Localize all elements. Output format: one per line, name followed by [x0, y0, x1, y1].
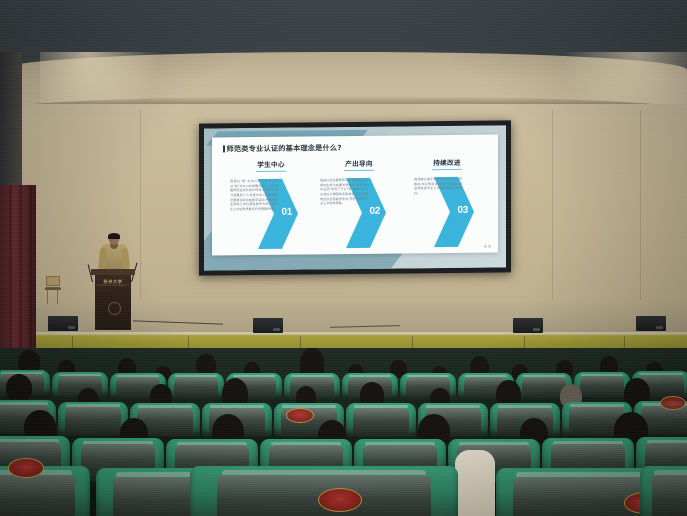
stage-chair	[45, 276, 61, 304]
stage-monitor-speaker	[636, 316, 666, 331]
column-heading-3: 持续改进	[404, 157, 490, 168]
column-body-2: 强调以社会需要和人的全面发展,以师范生学习效果为导向,关注师范生毕业后"学到了什…	[320, 178, 368, 206]
wall-panel-line	[552, 110, 553, 325]
audience-person-white-shirt	[455, 450, 495, 516]
chevron-number-3: 03	[457, 205, 468, 216]
audience-seat-front	[640, 466, 687, 516]
stage-monitor-speaker	[513, 318, 543, 333]
lectern-podium: 苏州大学 SOOCHOW UNIVERSITY	[95, 272, 131, 330]
curtain-fold	[9, 185, 12, 355]
seat-emblem-icon	[660, 396, 686, 410]
wall-panel-line	[140, 110, 141, 325]
audience-head	[6, 374, 32, 402]
column-underline	[344, 170, 374, 172]
podium-top	[91, 269, 135, 275]
projection-screen: 师范类专业认证的基本理念是什么? 01 02	[199, 120, 511, 275]
seat-emblem-icon	[286, 408, 314, 423]
slide-column-3: 持续改进 强调建立基于师范生核心能力素养要求(毕业要求)的评价反馈机制,促进师范…	[404, 157, 490, 196]
chevron-number-2: 02	[369, 206, 380, 217]
projected-slide: 师范类专业认证的基本理念是什么? 01 02	[204, 125, 506, 270]
audience-seat	[58, 402, 128, 436]
curtain-fold	[29, 185, 32, 355]
audience-seat	[346, 403, 416, 437]
stage-monitor-speaker	[253, 318, 283, 333]
slide-title-text: 师范类专业认证的基本理念是什么?	[227, 143, 342, 153]
audience-seat	[574, 372, 630, 398]
podium-seal-icon	[108, 302, 121, 315]
slide-content-card: 师范类专业认证的基本理念是什么? 01 02	[212, 135, 498, 256]
wall-panel-line	[640, 110, 641, 325]
slide-column-2: 产出导向 强调以社会需要和人的全面发展,以师范生学习效果为导向,关注师范生毕业后…	[316, 158, 402, 207]
slide-title: 师范类专业认证的基本理念是什么?	[223, 143, 342, 154]
audience-seating	[0, 348, 687, 516]
seat-emblem-icon	[8, 458, 44, 478]
audience-seat-front	[190, 466, 458, 516]
column-body-1: 强调以"教"为中心的传统模式向以"学"为中心的新模式转变,要求遵循师范生成长成才…	[230, 179, 278, 212]
slide-column-1: 学生中心 强调以"教"为中心的传统模式向以"学"为中心的新模式转变,要求遵循师范…	[228, 158, 314, 211]
column-heading-1: 学生中心	[228, 158, 314, 169]
slide-watermark: 教育	[484, 245, 492, 249]
stage-monitor-speaker	[48, 316, 78, 331]
column-body-3: 强调建立基于师范生核心能力素养要求(毕业要求)的评价反馈机制,促进师范类专业人才…	[414, 177, 462, 196]
auditorium-photo: 师范类专业认证的基本理念是什么? 01 02	[0, 0, 687, 516]
wall-left-dark-edge	[0, 52, 22, 202]
seat-emblem-icon	[318, 488, 362, 512]
curtain-fold	[19, 185, 22, 355]
podium-institution-subtitle: SOOCHOW UNIVERSITY	[95, 285, 131, 287]
column-heading-2: 产出导向	[316, 158, 402, 169]
column-underline	[256, 171, 286, 173]
audience-seat	[168, 373, 224, 399]
column-underline	[432, 169, 462, 171]
